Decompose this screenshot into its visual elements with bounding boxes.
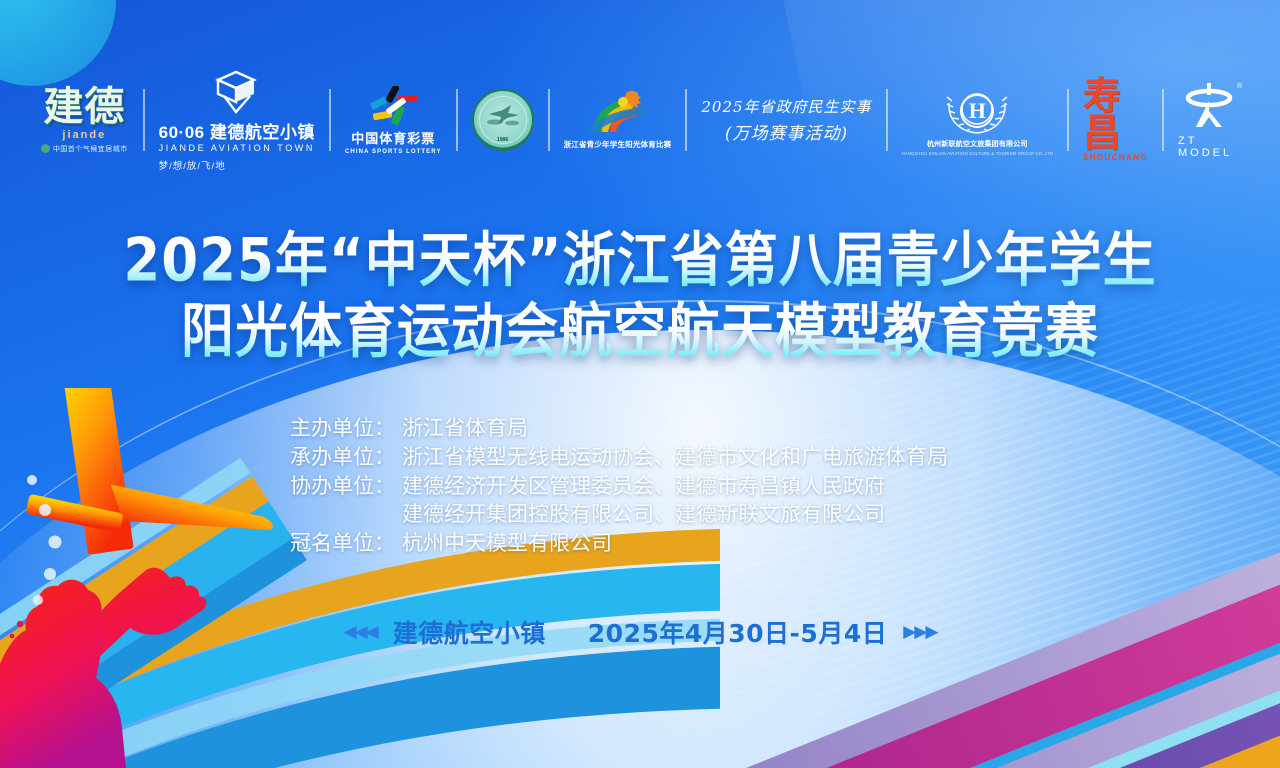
organizer-row: 承办单位： 浙江省模型无线电运动协会、建德市文化和广电旅游体育局 xyxy=(290,443,1050,472)
title-line-2: 阳光体育运动会航空航天模型教育竞赛 xyxy=(0,299,1280,367)
sports-lottery-cn: 中国体育彩票 xyxy=(351,128,435,147)
aviation-town-title: 60·06 建德航空小镇 xyxy=(159,124,315,142)
organizer-label: 冠名单位： xyxy=(290,529,402,558)
aviation-town-slogan: 梦/想/放/飞/地 xyxy=(159,158,226,172)
zt-model-mark-icon: ® xyxy=(1178,81,1240,131)
sports-lottery-mark-icon xyxy=(364,86,422,126)
logo-zhejiang-model-radio-association: 1986 xyxy=(472,89,534,151)
jiande-calligraphy-text: 建德 xyxy=(43,87,125,127)
organizer-value: 建德经开集团控股有限公司、建德新联文旅有限公司 xyxy=(402,500,1050,529)
aviation-town-cn: 建德航空小镇 xyxy=(210,123,315,142)
logo-hangzhou-xinlian-aviation: H 杭州新联航空文旅集团有限公司 HANGZHOU XINLIAN AVIATI… xyxy=(902,85,1053,156)
logo-divider xyxy=(1067,89,1069,151)
leaf-icon xyxy=(41,144,50,153)
association-seal-icon: 1986 xyxy=(472,89,534,151)
organizer-row-continuation: 协办单位： 建德经开集团控股有限公司、建德新联文旅有限公司 xyxy=(290,500,1050,529)
sunshine-sports-mark-icon xyxy=(580,90,654,136)
zt-model-caption: ZT MODEL xyxy=(1178,135,1240,159)
footer-venue: 建德航空小镇 xyxy=(393,614,546,650)
association-seal-year: 1986 xyxy=(497,137,508,143)
organizer-label: 主办单位： xyxy=(290,414,402,443)
shouchang-mark-text: 寿昌 xyxy=(1083,78,1148,150)
jiande-subtitle: 中国首个气候宜居城市 xyxy=(41,144,128,154)
organizer-row: 冠名单位： 杭州中天模型有限公司 xyxy=(290,529,1050,558)
decor-bubbles xyxy=(8,470,128,620)
livelihood-line-1: 2025年省政府民生实事 xyxy=(701,96,871,117)
shouchang-caption: SHOUCHANG xyxy=(1083,153,1148,162)
jiande-subtitle-text: 中国首个气候宜居城市 xyxy=(53,144,128,154)
event-footer: ◀◀◀ 建德航空小镇 2025年4月30日-5月4日 ▶▶▶ xyxy=(0,614,1280,650)
aviation-town-number: 60·06 xyxy=(159,123,205,142)
right-arrows-icon: ▶▶▶ xyxy=(903,622,936,642)
logo-zt-model: ® ZT MODEL xyxy=(1178,81,1240,159)
organizer-row: 主办单位： 浙江省体育局 xyxy=(290,414,1050,443)
logo-jiande-aviation-town: 60·06 建德航空小镇 JIANDE AVIATION TOWN 梦/想/放/… xyxy=(159,68,315,172)
livelihood-line-2: (万场赛事活动) xyxy=(725,119,848,144)
jiande-pinyin: jiande xyxy=(62,129,106,141)
logo-divider xyxy=(886,89,888,151)
logo-divider xyxy=(1162,89,1164,151)
registered-trademark-icon: ® xyxy=(1237,83,1242,90)
logo-divider xyxy=(329,89,331,151)
xinlian-caption-en: HANGZHOU XINLIAN AVIATION CULTURE & TOUR… xyxy=(902,151,1053,156)
footer-dates: 2025年4月30日-5月4日 xyxy=(588,614,887,650)
aviation-town-en: JIANDE AVIATION TOWN xyxy=(159,142,315,156)
aviation-town-text: 60·06 建德航空小镇 JIANDE AVIATION TOWN 梦/想/放/… xyxy=(159,124,315,172)
logo-china-sports-lottery: 中国体育彩票 CHINA SPORTS LOTTERY xyxy=(345,86,442,155)
organizer-value: 浙江省体育局 xyxy=(402,414,1050,443)
organizer-value: 建德经济开发区管理委员会、建德市寿昌镇人民政府 xyxy=(402,472,1050,501)
title-line-1: 2025年“中天杯”浙江省第八届青少年学生 xyxy=(0,228,1280,296)
organizer-value: 浙江省模型无线电运动协会、建德市文化和广电旅游体育局 xyxy=(402,443,1050,472)
event-poster: 建德 jiande 中国首个气候宜居城市 60·06 建德航空小镇 xyxy=(0,0,1280,768)
organizer-label: 承办单位： xyxy=(290,443,402,472)
left-arrows-icon: ◀◀◀ xyxy=(344,622,377,642)
logo-shouchang: 寿昌 SHOUCHANG xyxy=(1083,78,1148,161)
aviation-town-mark-icon xyxy=(214,68,260,116)
sports-lottery-en: CHINA SPORTS LOTTERY xyxy=(345,149,442,155)
organizer-label: 协办单位： xyxy=(290,472,402,501)
organizer-value: 杭州中天模型有限公司 xyxy=(402,529,1050,558)
event-title: 2025年“中天杯”浙江省第八届青少年学生 阳光体育运动会航空航天模型教育竞赛 xyxy=(0,228,1280,360)
sunshine-sports-caption: 浙江省青少年学生阳光体育比赛 xyxy=(564,139,672,150)
organizer-list: 主办单位： 浙江省体育局 承办单位： 浙江省模型无线电运动协会、建德市文化和广电… xyxy=(290,414,1050,558)
logo-zhejiang-youth-sunshine-sports: 浙江省青少年学生阳光体育比赛 xyxy=(564,90,672,150)
organizer-row: 协办单位： 建德经济开发区管理委员会、建德市寿昌镇人民政府 xyxy=(290,472,1050,501)
logo-divider xyxy=(143,89,145,151)
logo-divider xyxy=(685,89,687,151)
xinlian-caption-cn: 杭州新联航空文旅集团有限公司 xyxy=(927,139,1028,149)
logo-provincial-livelihood-project: 2025年省政府民生实事 (万场赛事活动) xyxy=(701,96,871,144)
xinlian-wreath-icon: H xyxy=(940,85,1014,137)
logo-divider xyxy=(548,89,550,151)
logo-divider xyxy=(456,89,458,151)
logo-jiande-city: 建德 jiande 中国首个气候宜居城市 xyxy=(40,80,129,160)
sponsor-logo-strip: 建德 jiande 中国首个气候宜居城市 60·06 建德航空小镇 xyxy=(0,72,1280,168)
